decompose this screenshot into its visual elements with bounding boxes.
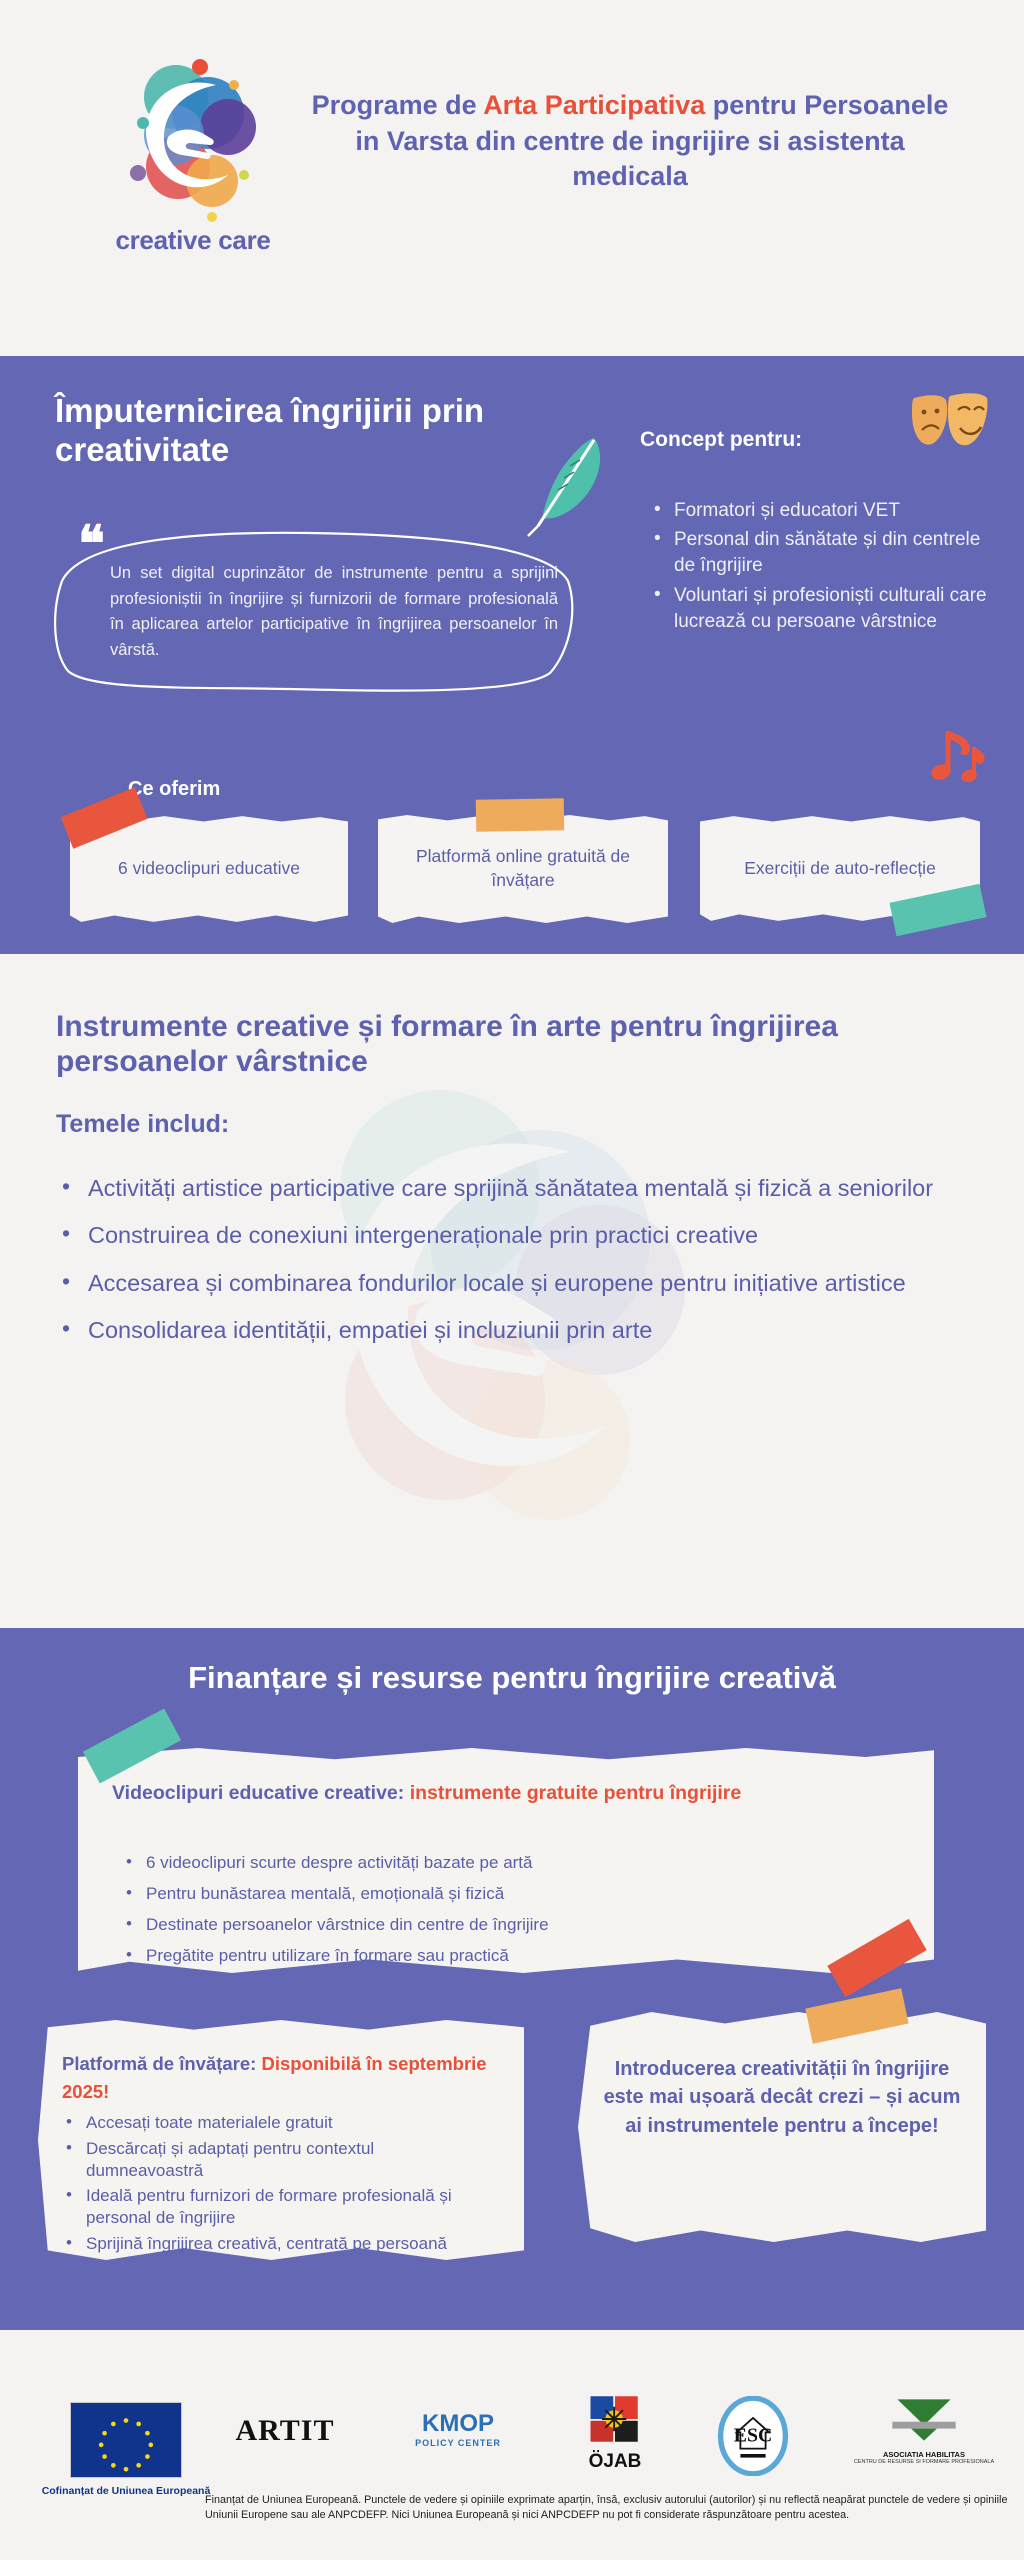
page-title-part1: Programe de	[312, 90, 484, 120]
themes-title: Instrumente creative și formare în arte …	[56, 1010, 896, 1079]
concept-list: Formatori și educatori VET Personal din …	[650, 498, 1000, 638]
partner-logo-label: KMOP	[378, 2410, 538, 2438]
header-section: creative care Programe de Arta Participa…	[0, 0, 1024, 345]
partner-logo-artit: ARTIT	[210, 2414, 360, 2448]
list-item: Construirea de conexiuni intergenerațion…	[58, 1219, 998, 1252]
themes-section: Instrumente creative și formare în arte …	[0, 960, 1024, 1620]
tape-strip-orange	[476, 798, 565, 832]
videos-panel-heading: Videoclipuri educative creative: instrum…	[112, 1778, 812, 1808]
empowerment-section: Împuternicirea îngrijirii prin creativit…	[0, 330, 1024, 980]
platform-panel-heading: Platformă de învățare: Disponibilă în se…	[62, 2050, 492, 2106]
callout-text: Introducerea creativității în îngrijire …	[598, 2055, 966, 2140]
quote-box: ❝ Un set digital cuprinzător de instrume…	[50, 523, 580, 698]
list-item: Consolidarea identității, empatiei și in…	[58, 1314, 998, 1347]
creative-care-swirl-logo	[116, 55, 286, 225]
brand-logo-text: creative care	[78, 225, 308, 256]
quote-text: Un set digital cuprinzător de instrument…	[110, 561, 558, 663]
footer-section: Cofinanțat de Uniunea Europeană ARTIT KM…	[0, 2350, 1024, 2560]
partner-logo-esc: ESC	[698, 2396, 808, 2481]
partner-logo-kmop: KMOP POLICY CENTER	[378, 2410, 538, 2448]
eu-flag-caption: Cofinanțat de Uniunea Europeană	[38, 2485, 214, 2499]
list-item: Pregătite pentru utilizare în formare sa…	[122, 1945, 822, 1967]
videos-heading-plain: Videoclipuri educative creative:	[112, 1782, 410, 1804]
list-item: Formatori și educatori VET	[650, 498, 1000, 524]
partner-logo-sublabel: POLICY CENTER	[378, 2438, 538, 2448]
funding-section: Finanțare și resurse pentru îngrijire cr…	[0, 1600, 1024, 2360]
eu-flag-icon	[70, 2402, 182, 2478]
torn-edge-top	[0, 330, 1024, 356]
offer-card: Platformă online gratuită de învățare	[378, 815, 668, 923]
svg-text:ESC: ESC	[734, 2424, 772, 2446]
list-item: Descărcați și adaptați pentru contextul …	[62, 2138, 492, 2182]
list-item: Sprijină îngrijirea creativă, centrată p…	[62, 2233, 492, 2255]
list-item: Accesarea și combinarea fondurilor local…	[58, 1267, 998, 1300]
partner-logos: ARTIT KMOP POLICY CENTER ÖJAB	[200, 2392, 1010, 2482]
torn-edge-top	[0, 1600, 1024, 1628]
list-item: Voluntari și profesioniști culturali car…	[650, 583, 1000, 635]
partner-logo-ojab: ÖJAB	[556, 2394, 674, 2473]
partner-logo-label: ÖJAB	[556, 2451, 674, 2473]
platform-heading-plain: Platformă de învățare:	[62, 2053, 261, 2074]
offer-card-label: Exerciții de auto-reflecție	[744, 857, 936, 881]
list-item: Accesați toate materialele gratuit	[62, 2112, 492, 2134]
ojab-mark-icon	[587, 2394, 643, 2444]
list-item: Pentru bunăstarea mentală, emoțională și…	[122, 1883, 822, 1905]
page-title: Programe de Arta Participativa pentru Pe…	[300, 88, 960, 195]
list-item: Personal din sănătate și din centrele de…	[650, 527, 1000, 579]
list-item: Activități artistice participative care …	[58, 1172, 998, 1205]
theatre-masks-icon	[910, 392, 990, 452]
brand-logo: creative care	[78, 55, 308, 270]
esc-mark-icon: ESC	[717, 2396, 789, 2476]
offer-card-label: Platformă online gratuită de învățare	[394, 845, 652, 892]
offer-card-label: 6 videoclipuri educative	[118, 857, 300, 881]
footer-disclaimer: Finanțat de Uniunea Europeană. Punctele …	[205, 2493, 1015, 2524]
partner-logo-sublabel: CENTRU DE RESURSE SI FORMARE PROFESIONAL…	[840, 2459, 1008, 2465]
themes-list: Activități artistice participative care …	[58, 1172, 998, 1361]
partner-logo-habilitas: ASOCIATIA HABILITAS CENTRU DE RESURSE SI…	[840, 2396, 1008, 2465]
offer-cards: 6 videoclipuri educative Platformă onlin…	[36, 815, 996, 935]
videos-heading-highlight: instrumente gratuite pentru îngrijire	[410, 1782, 742, 1804]
habilitas-mark-icon	[885, 2396, 963, 2444]
offer-heading: Ce oferim	[128, 778, 220, 801]
themes-subtitle: Temele includ:	[56, 1110, 229, 1139]
platform-panel-list: Accesați toate materialele gratuit Descă…	[62, 2112, 492, 2259]
list-item: Destinate persoanelor vârstnice din cent…	[122, 1914, 822, 1936]
quote-mark-icon: ❝	[78, 529, 105, 559]
videos-panel-list: 6 videoclipuri scurte despre activități …	[122, 1852, 822, 1976]
funding-title: Finanțare și resurse pentru îngrijire cr…	[0, 1660, 1024, 1696]
partner-logo-label: ASOCIATIA HABILITAS	[840, 2450, 1008, 2459]
concept-heading: Concept pentru:	[640, 428, 802, 452]
list-item: 6 videoclipuri scurte despre activități …	[122, 1852, 822, 1874]
infographic-page: creative care Programe de Arta Participa…	[0, 0, 1024, 2560]
music-note-icon	[930, 725, 986, 787]
partner-logo-label: ARTIT	[210, 2414, 360, 2448]
list-item: Ideală pentru furnizori de formare profe…	[62, 2185, 492, 2229]
page-title-highlight: Arta Participativa	[483, 90, 705, 120]
